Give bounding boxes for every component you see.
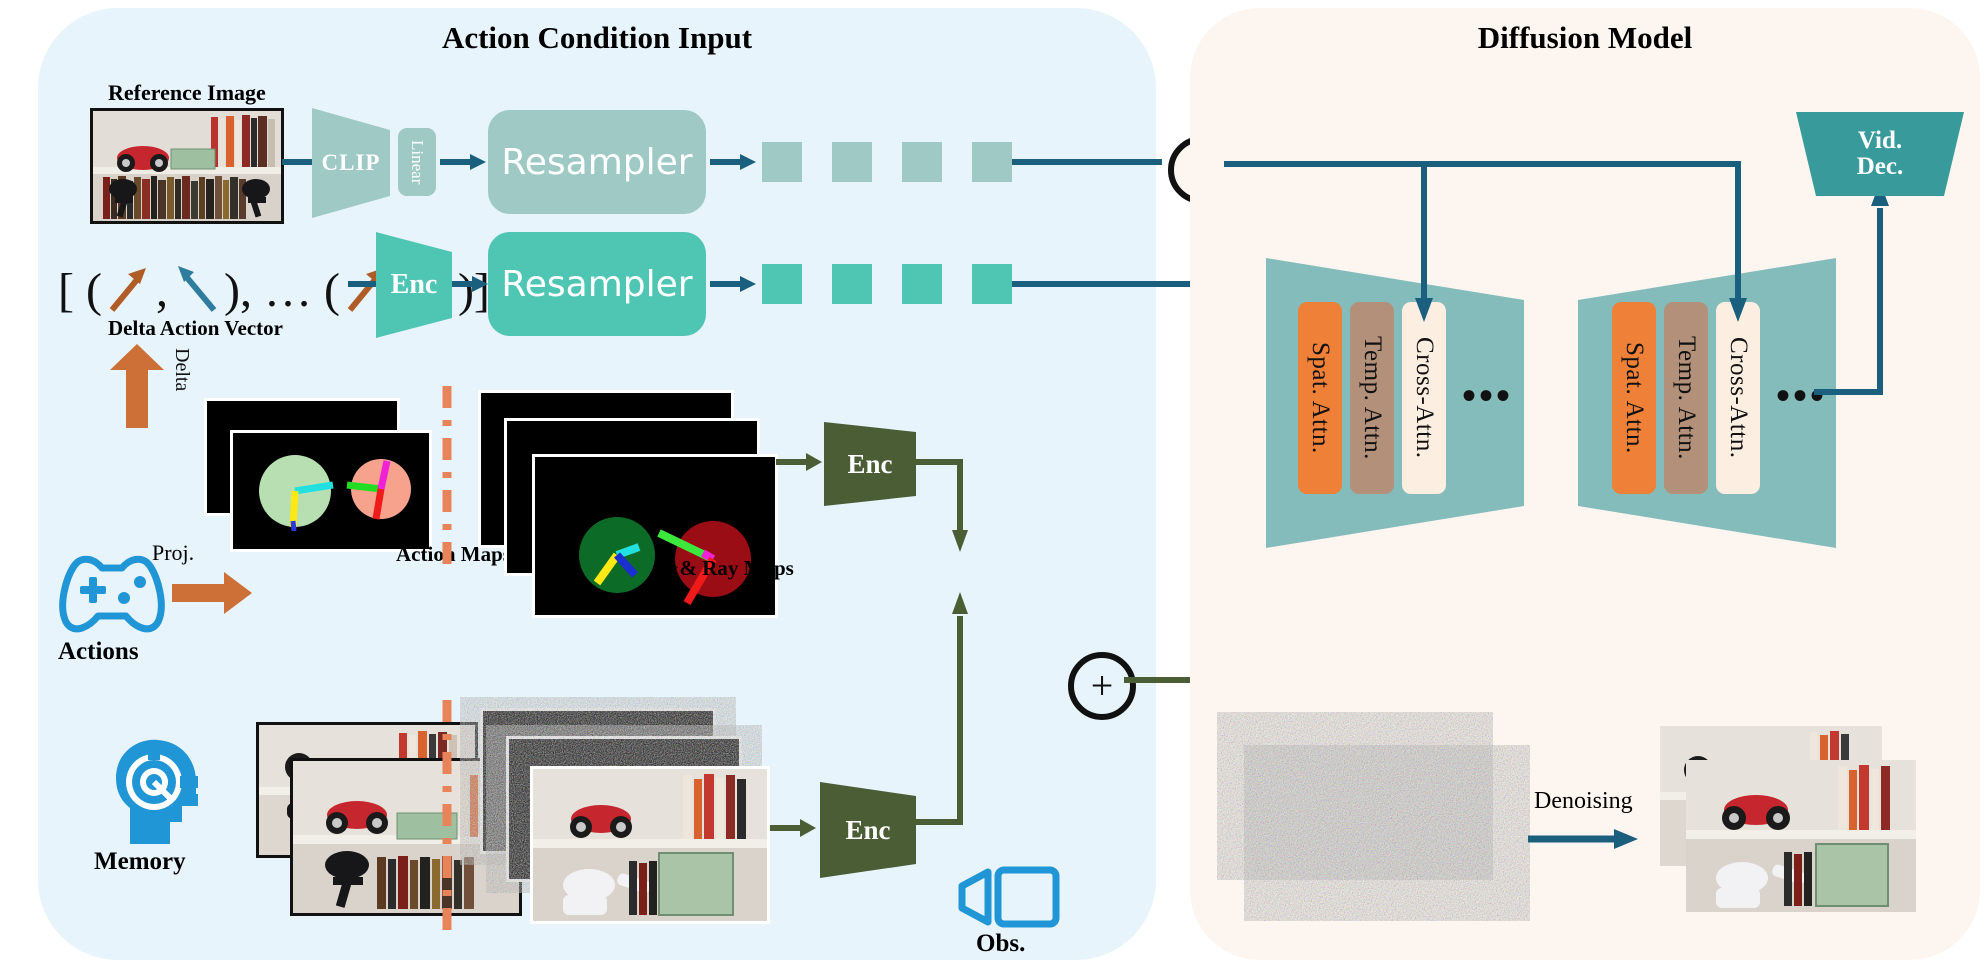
obs-frame-clean-front (530, 766, 770, 924)
resampler-image-label: Resampler (501, 142, 692, 183)
action-token-1 (762, 264, 802, 304)
resampler-image: Resampler (488, 110, 706, 214)
arrow-up-right-orange-icon (104, 262, 154, 318)
action-map-frame-front (230, 430, 432, 552)
left-panel-title: Action Condition Input (38, 20, 1156, 56)
proj-arrow-icon (172, 572, 252, 614)
wire-cond-to-cross-attn (1224, 158, 1840, 358)
linear-block: Linear (398, 128, 436, 196)
divider-dashed-upper (440, 386, 454, 574)
raymap-enc-label: Enc (847, 449, 892, 480)
reference-image (90, 108, 284, 224)
arrow-obs-to-enc (770, 816, 816, 840)
ray-maps-label: && Ray Maps (662, 556, 794, 581)
obs-label: Obs. (976, 930, 1025, 958)
image-token-1 (762, 142, 802, 182)
denoise-noisy-front (1268, 760, 1506, 906)
action-token-4 (972, 264, 1012, 304)
image-token-3 (902, 142, 942, 182)
arrow-resampler-to-tokens-top (710, 150, 756, 174)
arrow-up-left-blue-icon (170, 262, 222, 318)
delta-up-arrow-icon (108, 344, 166, 428)
ray-map-frame-front (532, 454, 778, 618)
arrow-enc-to-resampler-bottom (452, 272, 488, 296)
delta-action-vector-label: Delta Action Vector (108, 316, 283, 341)
right-panel-title: Diffusion Model (1190, 20, 1980, 56)
spat-attn-label-2: Spat. Attn. (1620, 342, 1648, 454)
clip-label: CLIP (322, 150, 381, 176)
arrow-linear-to-resampler (440, 150, 486, 174)
obs-enc-label: Enc (845, 815, 890, 846)
action-token-2 (832, 264, 872, 304)
actions-label: Actions (58, 638, 139, 666)
spat-attn-label-1: Spat. Attn. (1306, 342, 1334, 454)
delta-label-wrap: Delta (170, 348, 193, 396)
sum-symbol-bottom: + (1091, 670, 1114, 702)
action-token-3 (902, 264, 942, 304)
linear-label: Linear (407, 140, 427, 184)
camera-icon (954, 866, 1062, 928)
memory-label: Memory (94, 848, 186, 876)
brain-gear-icon (96, 730, 206, 848)
image-token-4 (972, 142, 1012, 182)
action-enc-label: Enc (391, 269, 438, 301)
proj-label: Proj. (152, 540, 194, 566)
divider-dashed-lower (440, 700, 454, 930)
reference-image-label: Reference Image (108, 80, 266, 106)
image-token-2 (832, 142, 872, 182)
wire-block1-to-block2 (1500, 384, 1620, 404)
denoising-label: Denoising (1534, 788, 1633, 815)
video-decoder-line2: Dec. (1857, 154, 1904, 180)
resampler-action-label: Resampler (501, 264, 692, 305)
denoise-clean-front (1686, 760, 1916, 912)
arrow-raymaps-to-enc (776, 450, 822, 474)
arrow-resampler-to-tokens-bottom (710, 272, 756, 296)
video-decoder-line1: Vid. (1858, 128, 1902, 154)
delta-label: Delta (170, 348, 193, 391)
wire-raymap-enc-to-sum (916, 456, 996, 556)
wire-obs-enc-to-sum (916, 586, 996, 830)
wire-unet-to-viddec (1800, 162, 1930, 424)
resampler-action: Resampler (488, 232, 706, 336)
denoising-arrow (1528, 826, 1638, 852)
